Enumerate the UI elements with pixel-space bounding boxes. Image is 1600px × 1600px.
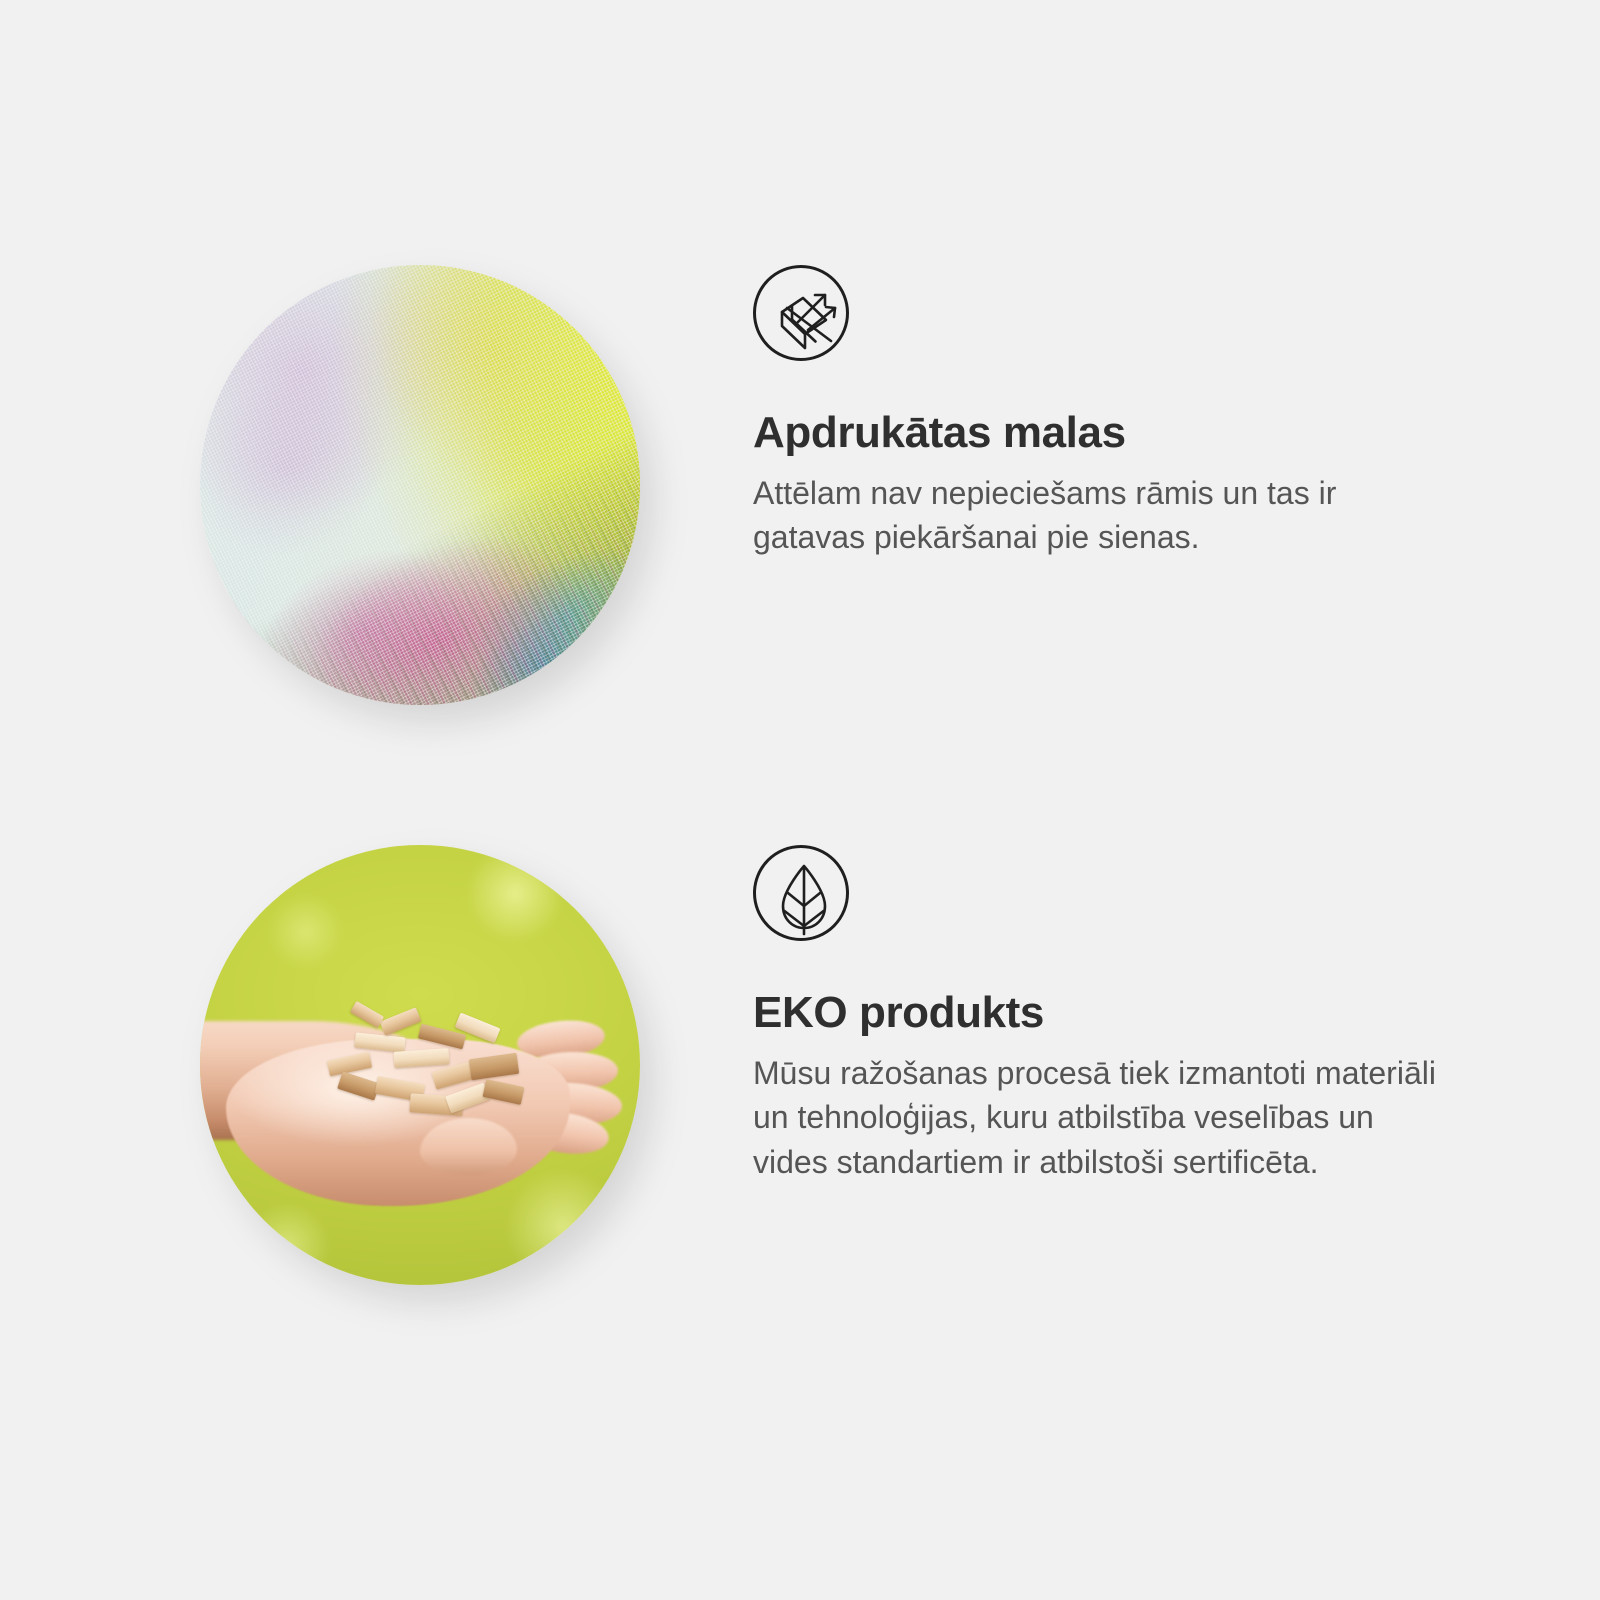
canvas-corner-photo bbox=[200, 265, 640, 705]
eco-product-text-column: EKO produkts Mūsu ražošanas procesā tiek… bbox=[753, 845, 1493, 1185]
printed-edges-text-column: Apdrukātas malas Attēlam nav nepieciešam… bbox=[753, 265, 1493, 560]
printed-canvas-surface bbox=[200, 265, 640, 705]
hand-with-wood-chips-photo bbox=[200, 845, 640, 1285]
wood-chip-heap bbox=[319, 990, 548, 1140]
product-features-panel: Apdrukātas malas Attēlam nav nepieciešam… bbox=[0, 0, 1600, 1600]
wood-chip bbox=[355, 1032, 407, 1052]
wood-chip bbox=[469, 1053, 519, 1080]
feature-description: Mūsu ražošanas procesā tiek izmantoti ma… bbox=[753, 1051, 1453, 1185]
wood-chip bbox=[338, 1071, 381, 1100]
feature-description: Attēlam nav nepieciešams rāmis un tas ir… bbox=[753, 471, 1453, 561]
feature-eco-product: EKO produkts Mūsu ražošanas procesā tiek… bbox=[0, 845, 1600, 1315]
feature-title: EKO produkts bbox=[753, 989, 1493, 1037]
canvas-photo-backdrop bbox=[200, 265, 640, 705]
wood-chip bbox=[394, 1048, 450, 1068]
feature-printed-edges: Apdrukātas malas Attēlam nav nepieciešam… bbox=[0, 265, 1600, 735]
thumb bbox=[420, 1118, 517, 1175]
wood-chip bbox=[445, 1082, 490, 1113]
wood-chip bbox=[482, 1079, 524, 1105]
wood-chip bbox=[350, 1001, 384, 1029]
leaf-icon bbox=[753, 845, 849, 941]
canvas-wrapped-edges-icon bbox=[753, 265, 849, 361]
wood-chip bbox=[379, 1007, 421, 1035]
eco-photo-content bbox=[200, 845, 640, 1285]
feature-title: Apdrukātas malas bbox=[753, 409, 1493, 457]
